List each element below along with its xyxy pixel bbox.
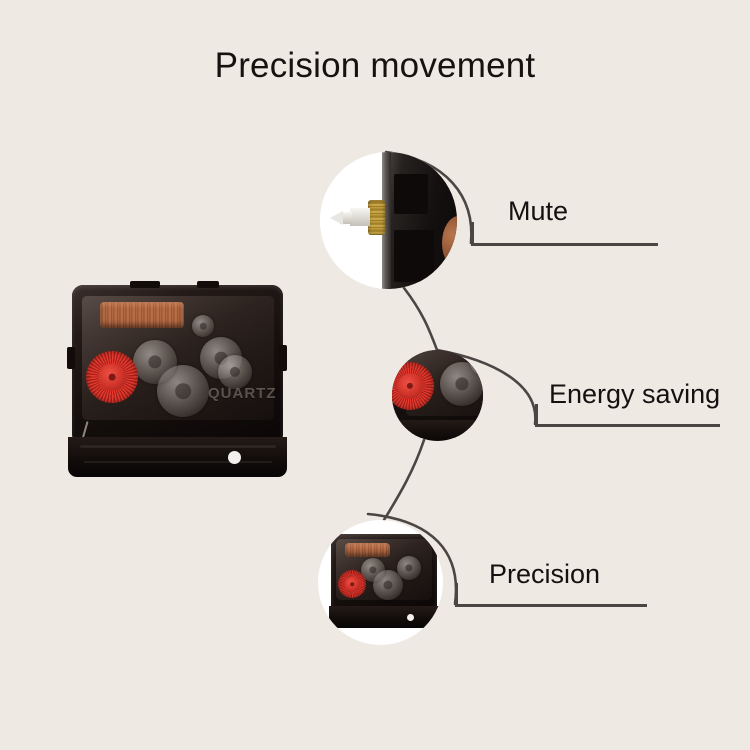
callout-label-precision: Precision (489, 561, 600, 588)
leader-rule-precision (455, 604, 647, 607)
macro-coil-precision (345, 543, 390, 557)
callout-photo-energy (392, 350, 483, 441)
macro-gear-precision-right (397, 556, 421, 580)
body-block-upper (394, 174, 428, 214)
movement-macro-energy (392, 350, 483, 438)
product-image-main: QUARTZ (72, 285, 283, 445)
brand-embossing: QUARTZ (208, 385, 277, 402)
body-block-lower (394, 230, 434, 282)
gear-small-top (192, 315, 214, 337)
infographic-canvas: Precision movement QUARTZ (0, 0, 750, 750)
bracket-groove-2 (84, 461, 272, 463)
gear-upper-mid (133, 340, 177, 384)
page-title: Precision movement (0, 48, 750, 83)
mounting-bracket (68, 437, 287, 477)
macro-adjust-wheel-precision (338, 570, 366, 598)
case-side-lug-right (279, 345, 287, 371)
case-top-lug-left (130, 281, 160, 288)
arc-circle1-to-circle2 (404, 288, 437, 350)
spindle-tip (330, 211, 343, 225)
movement-macro-precision (331, 534, 437, 612)
bracket-groove (80, 445, 276, 448)
white-spindle (350, 208, 370, 226)
gear-far-right (218, 355, 252, 389)
leader-rule-energy (535, 424, 720, 427)
copper-coil (100, 302, 184, 328)
macro-bracket-precision (329, 606, 439, 628)
callout-label-mute: Mute (508, 198, 568, 225)
callout-photo-mute (320, 152, 457, 289)
bracket-mounting-hole (228, 451, 241, 464)
arc-circle2-to-circle3 (384, 440, 424, 520)
case-side-lug-left (67, 347, 75, 369)
leader-rule-mute (471, 243, 658, 246)
macro-bracket-hole-precision (407, 614, 414, 621)
brass-threaded-collar (368, 200, 385, 235)
callout-photo-precision (318, 520, 443, 645)
adjustment-wheel-red (86, 351, 138, 403)
macro-bracket-energy (392, 420, 483, 441)
callout-label-energy-saving: Energy saving (549, 381, 720, 408)
shaft-macro-scene (320, 152, 457, 289)
case-top-lug-right (197, 281, 219, 288)
